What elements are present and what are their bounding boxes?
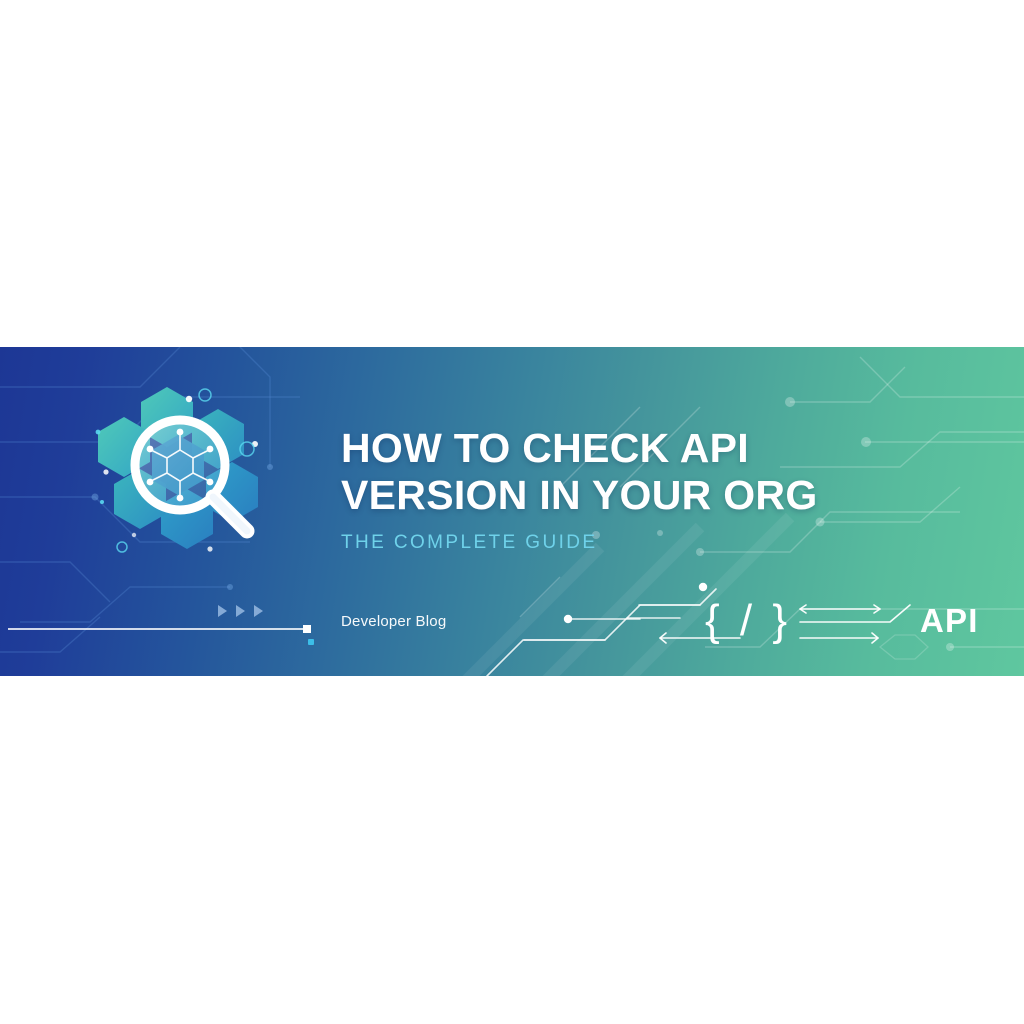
triangle-2 [236, 605, 245, 617]
page-title-line-1: HOW TO CHECK API [341, 425, 961, 472]
triangle-1 [218, 605, 227, 617]
article-hero-banner: HOW TO CHECK API VERSION IN YOUR ORG THE… [0, 347, 1024, 676]
page-subtitle: THE COMPLETE GUIDE [341, 532, 961, 554]
api-wordmark: API [920, 603, 979, 639]
play-triangles-icon [218, 605, 263, 617]
banner-text-block: HOW TO CHECK API VERSION IN YOUR ORG THE… [341, 425, 961, 554]
hexagon-cluster-magnifier-icon [92, 377, 307, 562]
page-title-line-2: VERSION IN YOUR ORG [341, 472, 961, 519]
footer-brand-label: Developer Blog [341, 613, 446, 630]
triangle-3 [254, 605, 263, 617]
code-brackets-icon: { / } [705, 599, 791, 643]
